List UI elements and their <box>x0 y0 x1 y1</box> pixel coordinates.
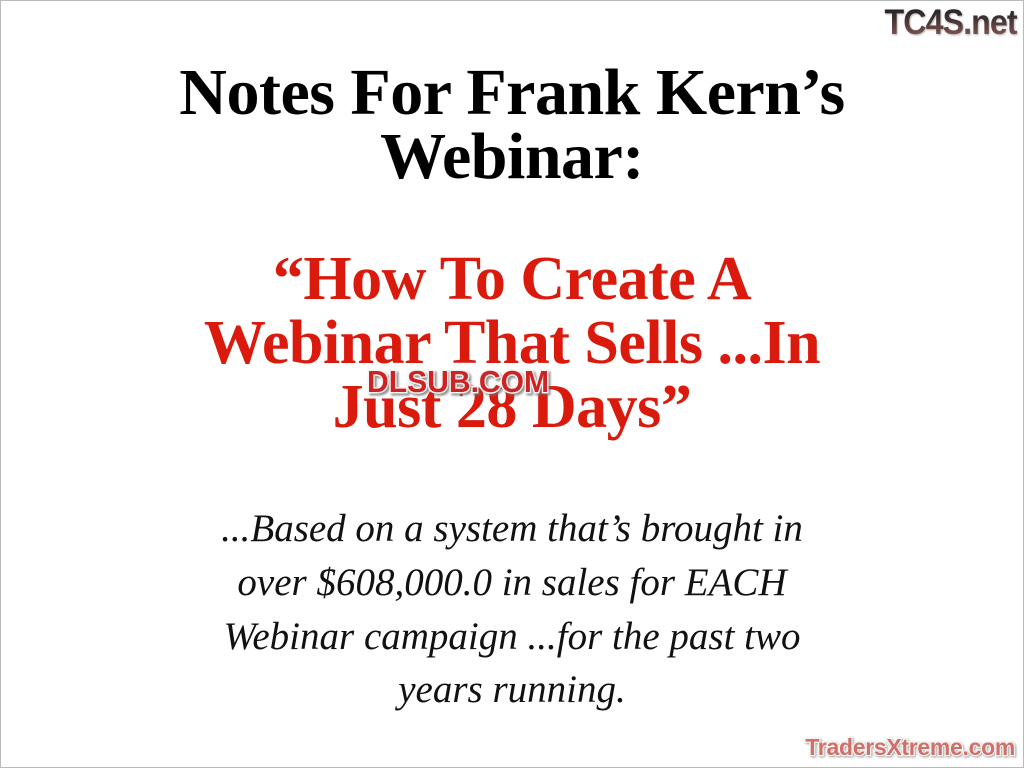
slide-headline: “How To Create A Webinar That Sells ...I… <box>1 248 1023 440</box>
watermark-tradersxtreme: TradersXtreme.com <box>805 734 1015 761</box>
slide-subtext: ...Based on a system that’s brought in o… <box>1 502 1023 717</box>
slide-title: Notes For Frank Kern’s Webinar: <box>1 61 1023 188</box>
watermark-tc4s: TC4S.net <box>885 3 1017 43</box>
presentation-slide: Notes For Frank Kern’s Webinar: “How To … <box>0 0 1024 768</box>
watermark-dlsub: DLSUB.COM <box>367 364 549 400</box>
